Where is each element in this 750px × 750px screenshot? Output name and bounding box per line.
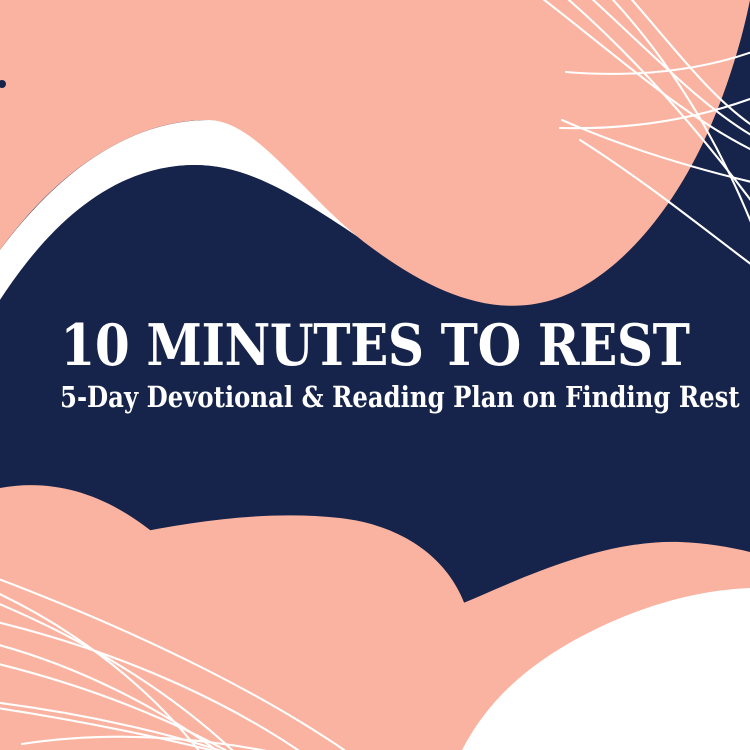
background-artwork (0, 0, 750, 750)
poster-card: 10 MINUTES TO REST 5-Day Devotional & Re… (0, 0, 750, 750)
